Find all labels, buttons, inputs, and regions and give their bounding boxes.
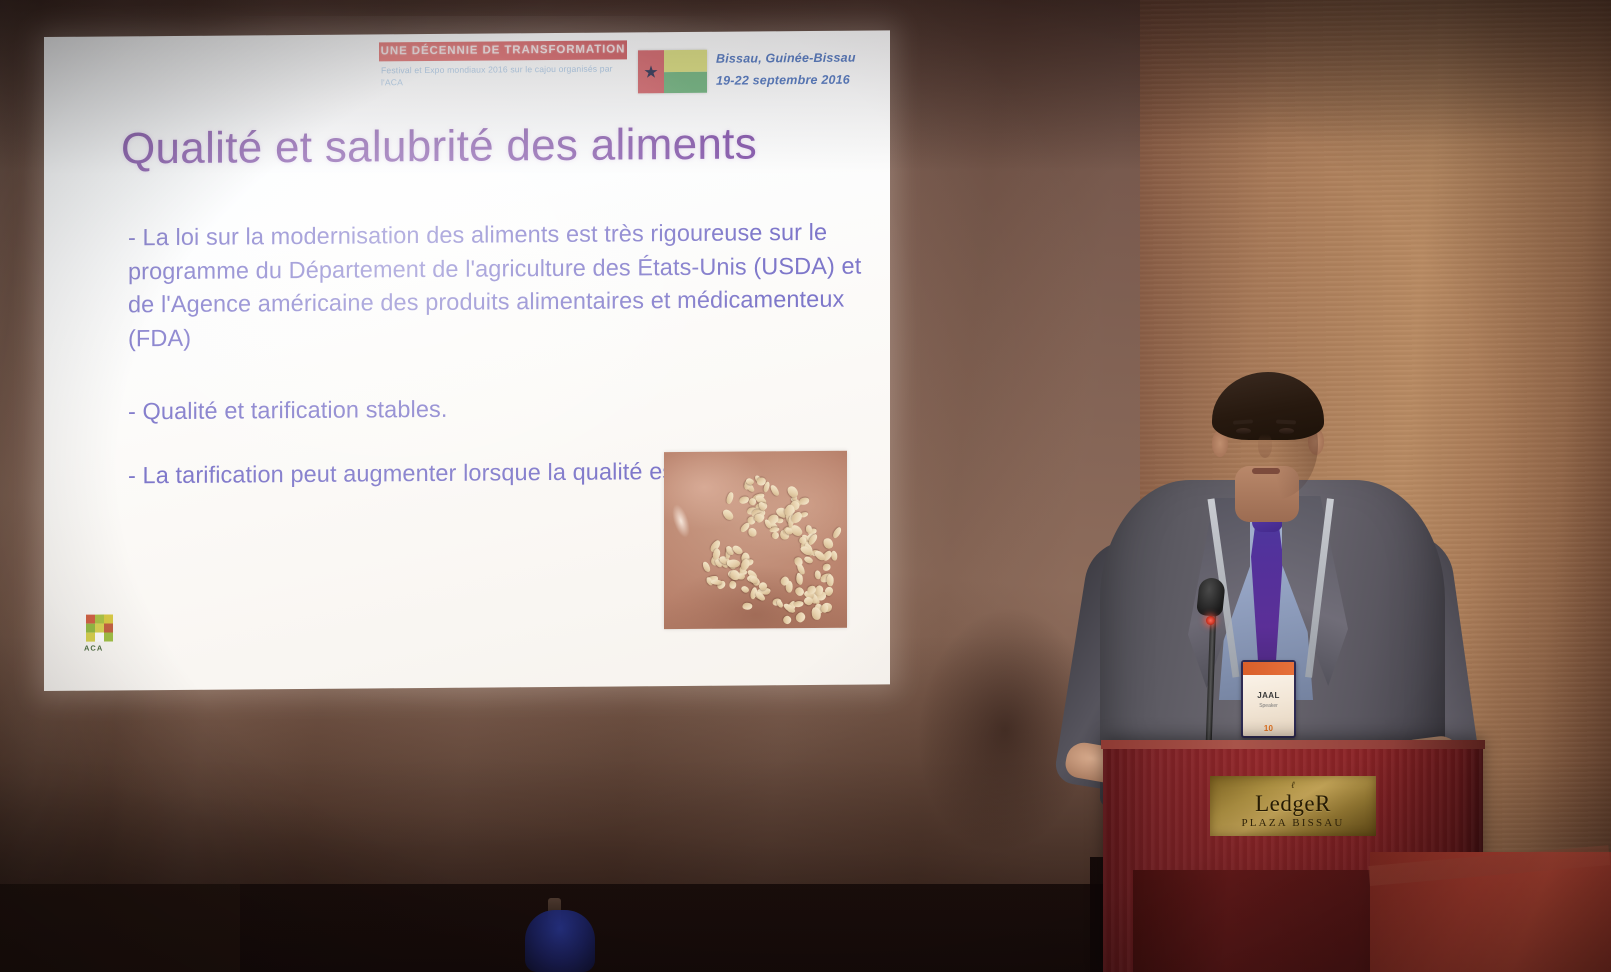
stage-floor-left [0,884,240,972]
flag-star-icon: ★ [643,63,658,80]
slide-banner-text: UNE DÉCENNIE DE TRANSFORMATION [379,40,627,61]
speaker-eye-left [1236,428,1251,434]
guinea-bissau-flag-icon: ★ [638,50,707,94]
aca-logo-label: ACA [84,644,103,653]
speaker-eye-right [1279,428,1294,434]
slide-bullet-2: - Qualité et tarification stables. [128,390,870,429]
plaque-venue-name: LedgeR [1255,791,1331,816]
slide-banner: UNE DÉCENNIE DE TRANSFORMATION [379,40,627,61]
badge-name-text: JAAL [1243,691,1294,700]
slide-header-date: 19-22 septembre 2016 [716,73,850,88]
slide-banner-subtitle: Festival et Expo mondiaux 2016 sur le ca… [381,63,631,88]
podium-top-edge [1101,740,1485,749]
speaker-conference-badge: JAAL Speaker 10 [1241,660,1296,738]
speaker-hair [1212,372,1324,440]
badge-event-logo: 10 [1243,724,1294,733]
flag-green-band [664,71,707,93]
speaker-mouth [1252,468,1280,474]
plaque-venue-location: PLAZA BISSAU [1241,816,1344,830]
projected-slide: UNE DÉCENNIE DE TRANSFORMATION Festival … [44,30,890,691]
plaque-mark-icon: ℓ [1292,782,1295,791]
flag-yellow-band [664,50,707,72]
microphone-led-indicator [1206,616,1215,625]
badge-header-bar [1243,662,1294,675]
cashew-kernels-photo [664,451,847,629]
aca-logo-icon [86,614,113,641]
microphone-head-icon [1196,577,1226,618]
flag-bands [664,50,707,93]
badge-role-text: Speaker [1243,703,1294,709]
slide-header-place: Bissau, Guinée-Bissau [716,51,856,66]
slide-bullet-1: - La loi sur la modernisation des alimen… [128,216,870,356]
slide-title: Qualité et salubrité des aliments [121,116,861,178]
speaker-person: JAAL Speaker 10 [1060,370,1480,800]
flag-hoist-band: ★ [638,50,664,93]
speaker-nose [1258,434,1272,458]
conference-photo-scene: UNE DÉCENNIE DE TRANSFORMATION Festival … [0,0,1611,972]
venue-plaque: ℓ LedgeR PLAZA BISSAU [1210,776,1376,836]
stage-blue-object [525,910,595,972]
